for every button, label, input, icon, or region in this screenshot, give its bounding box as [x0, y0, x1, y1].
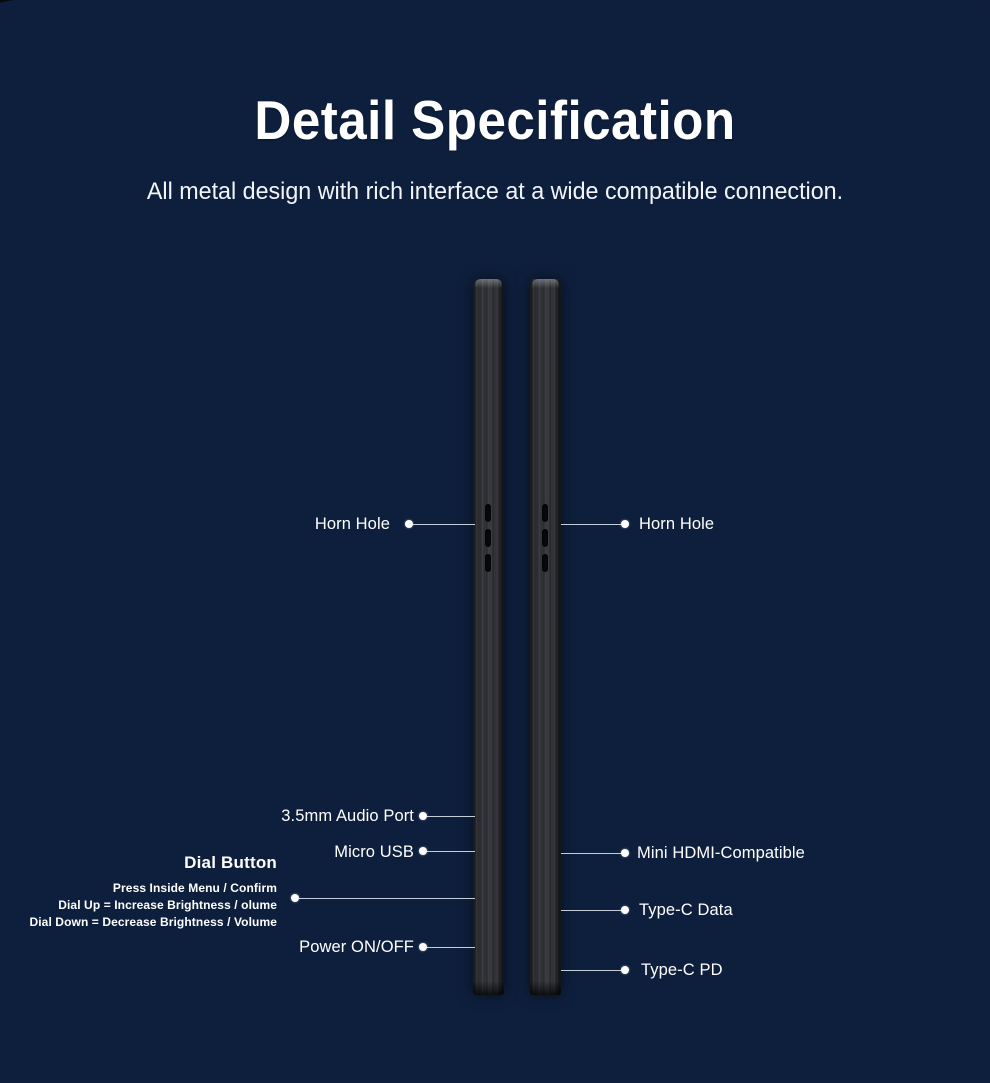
speaker-hole: [485, 529, 491, 547]
callout-label-horn-hole-right: Horn Hole: [639, 515, 714, 534]
remnant-bottom-curve: [0, 0, 990, 18]
page-subtitle: All metal design with rich interface at …: [15, 178, 975, 206]
callout-dot-type-c-data: [621, 906, 629, 914]
speaker-hole: [485, 554, 491, 572]
detail-specification-page: Detail Specification All metal design wi…: [0, 0, 990, 1083]
dial-button-line-1: Press Inside Menu / Confirm: [29, 880, 277, 897]
callout-dot-mini-hdmi: [621, 849, 629, 857]
callout-dot-micro-usb: [419, 847, 427, 855]
callout-label-micro-usb: Micro USB: [334, 843, 414, 862]
callout-line-type-c-pd: [561, 970, 625, 971]
device-left-top-highlight: [475, 279, 502, 288]
device-left-side-edge: [473, 279, 504, 995]
dial-button-title: Dial Button: [29, 853, 277, 873]
callout-dot-audio-port: [419, 812, 427, 820]
callout-dot-type-c-pd: [621, 966, 629, 974]
callout-dot-horn-hole-right: [621, 520, 629, 528]
device-left-bottom-shadow: [473, 981, 504, 995]
top-image-remnant-strip: [0, 0, 990, 18]
device-left-brushed-texture: [473, 279, 504, 995]
callout-line-mini-hdmi: [561, 853, 625, 854]
speaker-hole: [485, 504, 491, 522]
dial-button-line-2: Dial Up = Increase Brightness / olume: [29, 897, 277, 914]
callout-line-horn-hole-right: [561, 524, 625, 525]
speaker-hole: [542, 504, 548, 522]
callout-line-micro-usb: [427, 851, 475, 852]
dial-button-line-3: Dial Down = Decrease Brightness / Volume: [29, 914, 277, 931]
callout-line-power-on-off: [427, 947, 475, 948]
callout-label-audio-port: 3.5mm Audio Port: [281, 807, 414, 826]
device-right-brushed-texture: [530, 279, 561, 995]
callout-line-dial-button: [299, 898, 475, 899]
device-right-side-edge: [530, 279, 561, 995]
callout-label-power-on-off: Power ON/OFF: [299, 938, 414, 957]
callout-label-horn-hole-left: Horn Hole: [315, 515, 390, 534]
speaker-hole: [542, 554, 548, 572]
callout-dot-dial-button: [291, 894, 299, 902]
callout-label-type-c-pd: Type-C PD: [641, 961, 723, 980]
callout-line-type-c-data: [561, 910, 625, 911]
dial-button-callout-block: Dial Button Press Inside Menu / Confirm …: [29, 853, 277, 931]
speaker-hole: [542, 529, 548, 547]
callout-line-horn-hole-left: [413, 524, 475, 525]
device-right-bottom-shadow: [530, 981, 561, 995]
callout-label-mini-hdmi: Mini HDMI-Compatible: [637, 844, 805, 863]
device-right-top-highlight: [532, 279, 559, 288]
callout-dot-horn-hole-left: [405, 520, 413, 528]
callout-line-audio-port: [427, 816, 475, 817]
callout-label-type-c-data: Type-C Data: [639, 901, 733, 920]
page-title: Detail Specification: [35, 88, 956, 152]
callout-dot-power-on-off: [419, 943, 427, 951]
